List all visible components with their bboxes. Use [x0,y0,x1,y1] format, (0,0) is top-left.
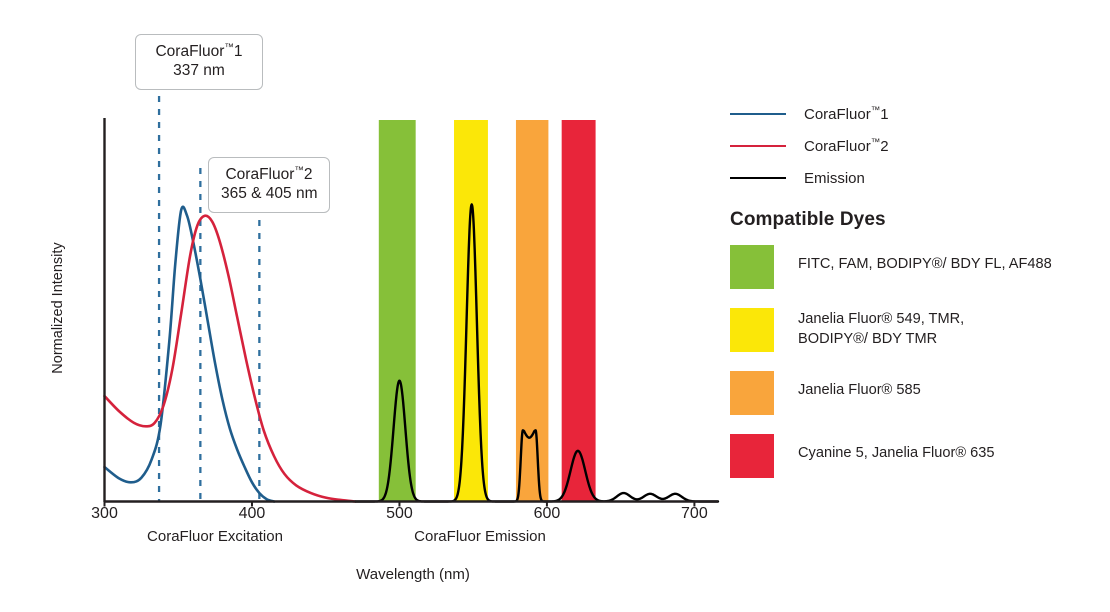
dye-label-green: FITC, FAM, BODIPY®/ BDY FL, AF488 [798,245,1052,275]
legend-item-corafluor2: CoraFluor™2 [730,137,1100,155]
excitation-region-label: CoraFluor Excitation [140,528,290,545]
x-tick-label-700: 700 [664,505,724,523]
callout2-line1: CoraFluor™2 [221,165,317,185]
legend-label-corafluor2: CoraFluor™2 [804,137,889,155]
dye-color-swatch-yellow [730,308,774,352]
dye-row-red: Cyanine 5, Janelia Fluor® 635 [730,434,1100,478]
callout-corafluor2: CoraFluor™2 365 & 405 nm [208,157,330,213]
legend-label-corafluor1: CoraFluor™1 [804,105,889,123]
compatible-dyes-title: Compatible Dyes [730,209,1100,231]
y-axis-title: Normalized Intensity [50,223,66,393]
curve-series-1 [105,216,356,502]
legend-panel: CoraFluor™1 CoraFluor™2 Emission Compati… [730,105,1100,497]
dye-label-orange: Janelia Fluor® 585 [798,371,921,401]
curve-series-0 [105,207,275,502]
dye-band-3 [562,120,596,502]
legend-line-swatch-corafluor2 [730,145,786,147]
legend-label-emission: Emission [804,170,865,187]
dye-label-red: Cyanine 5, Janelia Fluor® 635 [798,434,995,464]
callout1-line1: CoraFluor™1 [148,42,250,62]
dye-row-green: FITC, FAM, BODIPY®/ BDY FL, AF488 [730,245,1100,289]
dye-band-0 [379,120,416,502]
emission-region-label: CoraFluor Emission [405,528,555,545]
callout1-line2: 337 nm [148,62,250,81]
dye-row-yellow: Janelia Fluor® 549, TMR,BODIPY®/ BDY TMR [730,308,1100,352]
callout2-line2: 365 & 405 nm [221,185,317,204]
legend-line-swatch-emission [730,177,786,179]
x-tick-label-500: 500 [369,505,429,523]
dye-color-swatch-green [730,245,774,289]
dye-label-yellow: Janelia Fluor® 549, TMR,BODIPY®/ BDY TMR [798,308,964,349]
legend-item-emission: Emission [730,169,1100,187]
x-axis-title: Wavelength (nm) [288,566,538,583]
x-tick-label-400: 400 [222,505,282,523]
dye-row-orange: Janelia Fluor® 585 [730,371,1100,415]
legend-item-corafluor1: CoraFluor™1 [730,105,1100,123]
callout-corafluor1: CoraFluor™1 337 nm [135,34,263,90]
dye-color-swatch-red [730,434,774,478]
legend-line-swatch-corafluor1 [730,113,786,115]
x-tick-label-300: 300 [75,505,135,523]
dye-band-group [379,120,596,502]
x-tick-label-600: 600 [517,505,577,523]
dye-color-swatch-orange [730,371,774,415]
dye-band-1 [454,120,488,502]
